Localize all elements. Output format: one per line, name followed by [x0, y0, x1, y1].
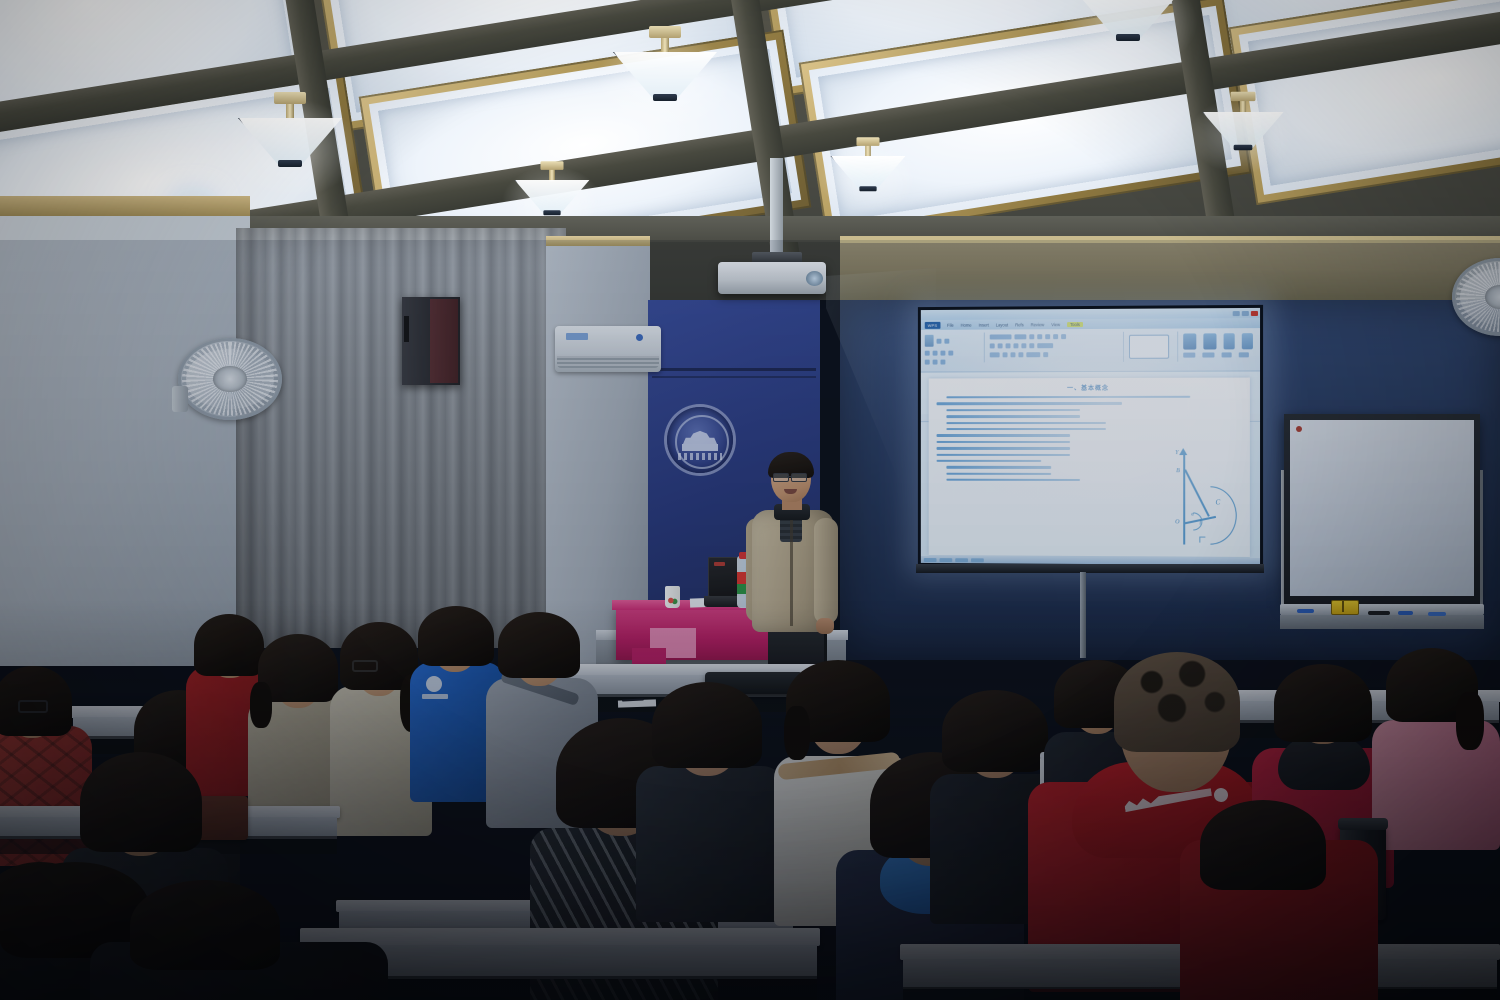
app-logo: WPS	[925, 321, 940, 328]
document-text-line	[946, 409, 1080, 412]
taskbar-item[interactable]	[939, 558, 952, 562]
diagram-axis-label: Y	[1175, 450, 1178, 456]
tab-tools[interactable]: Tools	[1067, 322, 1083, 327]
eraser-divider	[1342, 601, 1344, 612]
whiteboard-tray-shelf	[1280, 615, 1484, 629]
whiteboard-magnet	[1296, 426, 1302, 432]
document-text-line	[937, 460, 1042, 463]
tab-view[interactable]: View	[1051, 322, 1060, 327]
diagram-point-c: C	[1215, 498, 1220, 506]
taskbar-item[interactable]	[971, 558, 984, 562]
wall-reveal-line	[652, 376, 816, 378]
maximize-icon[interactable]	[1242, 310, 1249, 315]
gray-curtain-shading	[236, 228, 566, 648]
geometry-diagram: Y B C O α l	[1157, 448, 1244, 553]
document-text-line	[946, 396, 1190, 399]
emblem-banner	[682, 444, 718, 451]
document-heading: 一、基本概念	[929, 383, 1250, 393]
lecturer	[746, 452, 846, 682]
taskbar-item[interactable]	[955, 558, 968, 562]
hair	[1114, 652, 1240, 752]
ribbon-toolbar[interactable]	[921, 328, 1260, 372]
document-page[interactable]: 一、基本概念	[929, 378, 1250, 557]
speaker-port	[404, 316, 409, 342]
tab-review[interactable]: Review	[1031, 322, 1045, 327]
emblem-text	[678, 453, 722, 460]
laptop-logo	[714, 562, 725, 566]
wall-trim	[0, 196, 250, 216]
eyeglasses-icon	[352, 660, 378, 672]
projector-mount-pole	[770, 158, 783, 262]
tab-refs[interactable]: Refs	[1015, 322, 1024, 327]
ribbon-group-insert[interactable]	[1183, 330, 1256, 363]
air-conditioner-led	[636, 334, 643, 341]
document-text-line	[946, 422, 1106, 424]
lecturer-hand	[816, 618, 834, 634]
air-conditioner-vent	[557, 356, 659, 368]
diagram-length-label: l	[1199, 520, 1201, 526]
tab-file[interactable]: File	[947, 322, 954, 327]
document-text-line	[946, 415, 1080, 418]
ribbon-group-clipboard[interactable]	[925, 332, 982, 364]
ceiling-soffit	[840, 240, 1500, 306]
tab-home[interactable]: Home	[961, 322, 972, 327]
diagram-angle-label: α	[1191, 512, 1194, 517]
document-text-line	[946, 472, 1051, 475]
close-icon[interactable]	[1251, 310, 1258, 315]
soffit-edge	[840, 236, 1500, 243]
projection-screen: WPS File Home Insert Layout Refs Review …	[918, 305, 1263, 569]
whiteboard-eraser[interactable]	[1331, 600, 1359, 615]
student	[90, 880, 390, 1000]
document-text-line	[946, 479, 1080, 482]
document-text-line	[937, 453, 1071, 455]
wall-fan-left	[178, 338, 282, 420]
whiteboard-marker-blue[interactable]	[1398, 611, 1413, 615]
wall-reveal-line	[652, 368, 816, 371]
diagram-point-o: O	[1175, 519, 1179, 525]
taskbar-item[interactable]	[924, 557, 937, 561]
diagram-point-b: B	[1176, 468, 1180, 474]
document-text-line	[937, 441, 1071, 443]
whiteboard-marker-black[interactable]	[1368, 611, 1390, 615]
air-conditioner-badge	[566, 333, 588, 340]
paper-cup-pattern	[667, 596, 678, 605]
whiteboard-surface[interactable]	[1290, 420, 1474, 596]
document-text-line	[937, 447, 1071, 449]
whiteboard-marker-blue[interactable]	[1297, 609, 1314, 613]
student	[1180, 800, 1380, 1000]
document-text-line	[937, 434, 1071, 436]
screen-stand-pole	[1080, 572, 1086, 658]
tab-insert[interactable]: Insert	[979, 322, 989, 327]
pillar-cap	[546, 236, 650, 246]
eyeglasses-icon	[773, 473, 789, 482]
minimize-icon[interactable]	[1233, 311, 1240, 316]
ribbon-group-font[interactable]	[990, 331, 1119, 364]
eyeglasses-icon	[791, 473, 807, 482]
ribbon-group-styles[interactable]	[1129, 331, 1173, 363]
hood	[1278, 736, 1370, 790]
projector-lens	[806, 271, 823, 286]
screen-bottom-rail	[916, 564, 1264, 573]
document-text-line	[946, 466, 1051, 469]
speaker-panel	[430, 299, 458, 383]
eyeglasses-icon	[18, 700, 48, 713]
student	[1372, 648, 1500, 828]
student	[636, 682, 786, 912]
wall-fan-right	[1452, 258, 1500, 336]
whiteboard-marker-blue[interactable]	[1428, 612, 1446, 616]
classroom-photo: WPS File Home Insert Layout Refs Review …	[0, 0, 1500, 1000]
jacket-logo-text	[422, 694, 448, 699]
document-text-line	[946, 428, 1106, 430]
left-wall	[0, 196, 250, 666]
jacket-logo	[426, 676, 442, 692]
document-text-line	[937, 402, 1122, 405]
tab-layout[interactable]: Layout	[996, 322, 1008, 327]
